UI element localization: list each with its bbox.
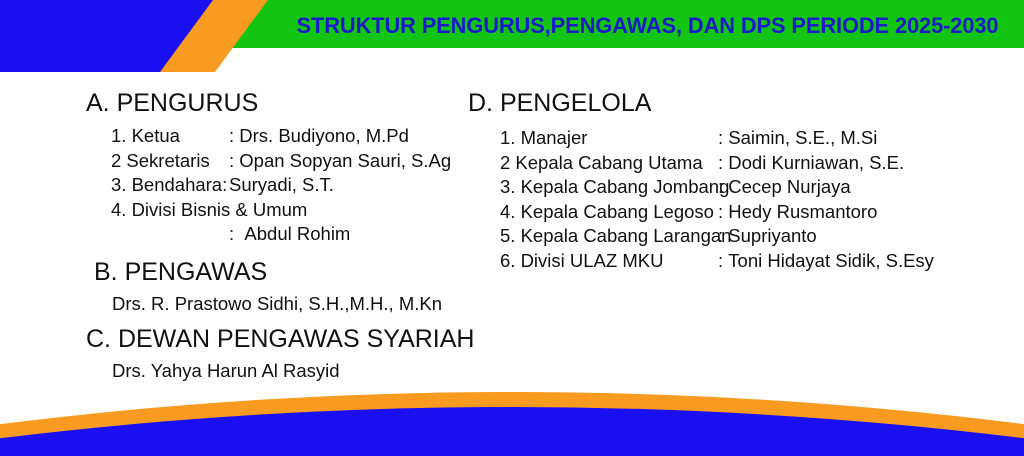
footer-decoration <box>0 366 1024 456</box>
item-value: : Saimin, S.E., M.Si <box>718 126 877 151</box>
item-label: 1. Manajer <box>500 126 718 151</box>
item-label: 5. Kepala Cabang Larangan <box>500 224 718 249</box>
section-heading-pengurus: A. PENGURUS <box>86 88 476 119</box>
content-area: A. PENGURUS 1. Ketua : Drs. Budiyono, M.… <box>0 88 1024 378</box>
item-label: 3. Kepala Cabang Jombang <box>500 175 718 200</box>
section-heading-pengawas: B. PENGAWAS <box>86 257 476 288</box>
item-label: 3. Bendahara: <box>111 173 229 198</box>
list-item: 6. Divisi ULAZ MKU : Toni Hidayat Sidik,… <box>500 249 988 274</box>
header-banner: STRUKTUR PENGURUS,PENGAWAS, DAN DPS PERI… <box>0 0 1024 80</box>
item-label: 4. Kepala Cabang Legoso <box>500 200 718 225</box>
pengawas-name: Drs. R. Prastowo Sidhi, S.H.,M.H., M.Kn <box>86 288 476 317</box>
section-heading-dps: C. DEWAN PENGAWAS SYARIAH <box>86 324 476 355</box>
item-value: : Opan Sopyan Sauri, S.Ag <box>229 149 451 174</box>
item-label: 1. Ketua <box>111 124 229 149</box>
item-value: : Dodi Kurniawan, S.E. <box>718 151 904 176</box>
right-column: D. PENGELOLA 1. Manajer : Saimin, S.E., … <box>468 88 988 274</box>
item-label: 6. Divisi ULAZ MKU <box>500 249 718 274</box>
item-value: : Hedy Rusmantoro <box>718 200 877 225</box>
banner-title: STRUKTUR PENGURUS,PENGAWAS, DAN DPS PERI… <box>291 13 1004 39</box>
item-label: 2 Sekretaris <box>111 149 229 174</box>
list-item: 4. Divisi Bisnis & Umum <box>111 198 476 223</box>
banner-shapes <box>0 0 1024 80</box>
section-heading-pengelola: D. PENGELOLA <box>468 88 988 119</box>
item-label: 2 Kepala Cabang Utama <box>500 151 718 176</box>
pengurus-list: 1. Ketua : Drs. Budiyono, M.Pd 2 Sekreta… <box>86 119 476 247</box>
list-item: 3. Bendahara: Suryadi, S.T. <box>111 173 476 198</box>
slide-canvas: STRUKTUR PENGURUS,PENGAWAS, DAN DPS PERI… <box>0 0 1024 456</box>
item-value: Suryadi, S.T. <box>229 173 334 198</box>
list-item: 2 Kepala Cabang Utama : Dodi Kurniawan, … <box>500 151 988 176</box>
item-value: : Abdul Rohim <box>229 222 350 247</box>
footer-shapes <box>0 366 1024 456</box>
list-item: 5. Kepala Cabang Larangan : Supriyanto <box>500 224 988 249</box>
item-value: : Toni Hidayat Sidik, S.Esy <box>718 249 934 274</box>
item-value: : Cecep Nurjaya <box>718 175 851 200</box>
item-label: 4. Divisi Bisnis & Umum <box>111 198 307 223</box>
item-value: : Supriyanto <box>718 224 817 249</box>
list-item: 2 Sekretaris : Opan Sopyan Sauri, S.Ag <box>111 149 476 174</box>
pengelola-list: 1. Manajer : Saimin, S.E., M.Si 2 Kepala… <box>468 119 988 274</box>
left-column: A. PENGURUS 1. Ketua : Drs. Budiyono, M.… <box>86 88 476 383</box>
item-value: : Drs. Budiyono, M.Pd <box>229 124 409 149</box>
list-item: 1. Ketua : Drs. Budiyono, M.Pd <box>111 124 476 149</box>
list-item: : Abdul Rohim <box>111 222 476 247</box>
list-item: 4. Kepala Cabang Legoso : Hedy Rusmantor… <box>500 200 988 225</box>
list-item: 1. Manajer : Saimin, S.E., M.Si <box>500 126 988 151</box>
list-item: 3. Kepala Cabang Jombang : Cecep Nurjaya <box>500 175 988 200</box>
